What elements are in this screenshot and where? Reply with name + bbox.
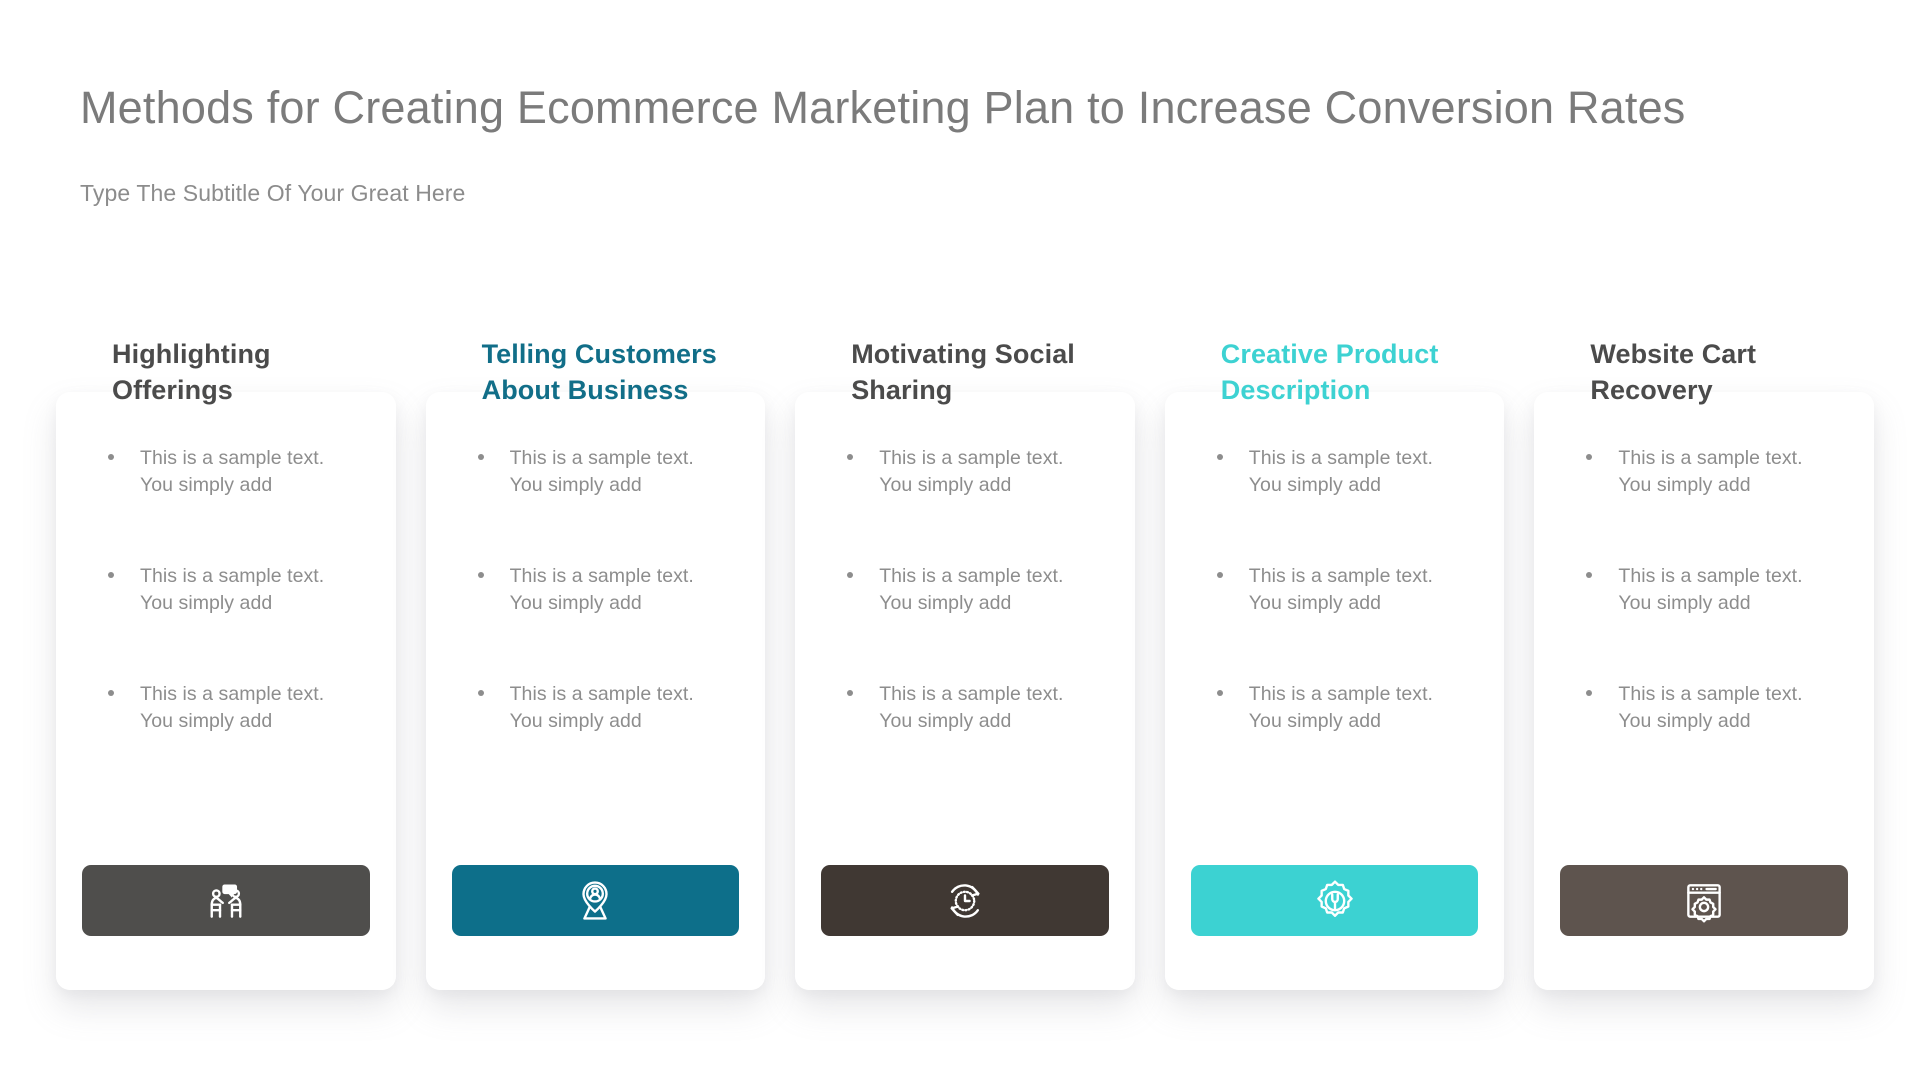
- list-item: This is a sample text. You simply add: [1580, 681, 1848, 734]
- bullet-line-1: This is a sample text.: [510, 565, 694, 587]
- bullet-line-1: This is a sample text.: [140, 447, 324, 469]
- page-subtitle: Type The Subtitle Of Your Great Here: [80, 180, 1840, 207]
- location-pin-person-icon: [572, 878, 618, 924]
- bullet-dot-icon: [108, 454, 114, 460]
- feature-card: Website Cart Recovery This is a sample t…: [1534, 392, 1874, 990]
- list-item: This is a sample text. You simply add: [841, 563, 1109, 616]
- bullet-dot-icon: [478, 454, 484, 460]
- bullet-line-2: You simply add: [879, 710, 1011, 732]
- bullet-dot-icon: [108, 572, 114, 578]
- list-item: This is a sample text. You simply add: [102, 563, 370, 616]
- gear-wrench-icon: [1312, 878, 1358, 924]
- bullet-line-2: You simply add: [879, 474, 1011, 496]
- slide-header: Methods for Creating Ecommerce Marketing…: [80, 82, 1840, 207]
- bullet-line-1: This is a sample text.: [510, 447, 694, 469]
- list-item: This is a sample text. You simply add: [472, 445, 740, 498]
- list-item: This is a sample text. You simply add: [841, 681, 1109, 734]
- bullet-line-1: This is a sample text.: [1249, 683, 1433, 705]
- card-title-line-1: Telling Customers: [482, 339, 717, 369]
- card-icon-button[interactable]: [821, 865, 1109, 936]
- bullet-line-2: You simply add: [510, 710, 642, 732]
- list-item: This is a sample text. You simply add: [102, 681, 370, 734]
- bullet-line-2: You simply add: [510, 592, 642, 614]
- bullet-line-2: You simply add: [1249, 592, 1381, 614]
- card-title: Highlighting Offerings: [82, 337, 370, 433]
- bullet-dot-icon: [1586, 454, 1592, 460]
- card-title: Creative Product Description: [1191, 337, 1479, 433]
- card-title-line-2: About Business: [482, 375, 689, 405]
- bullet-line-1: This is a sample text.: [879, 565, 1063, 587]
- card-title-line-1: Creative Product: [1221, 339, 1439, 369]
- card-icon-button[interactable]: [1560, 865, 1848, 936]
- feature-card: Motivating Social Sharing This is a samp…: [795, 392, 1135, 990]
- bullet-dot-icon: [1217, 572, 1223, 578]
- bullet-line-2: You simply add: [1249, 710, 1381, 732]
- cards-row: Highlighting Offerings This is a sample …: [56, 392, 1874, 990]
- bullet-dot-icon: [1217, 690, 1223, 696]
- card-icon-button[interactable]: [1191, 865, 1479, 936]
- bullet-dot-icon: [847, 572, 853, 578]
- card-title-line-1: Motivating Social: [851, 339, 1075, 369]
- bullet-dot-icon: [847, 454, 853, 460]
- bullet-dot-icon: [478, 572, 484, 578]
- card-title: Website Cart Recovery: [1560, 337, 1848, 433]
- bullet-line-1: This is a sample text.: [1618, 683, 1802, 705]
- clock-refresh-icon: [942, 878, 988, 924]
- bullet-line-1: This is a sample text.: [510, 683, 694, 705]
- bullet-line-2: You simply add: [140, 710, 272, 732]
- bullet-line-1: This is a sample text.: [1249, 447, 1433, 469]
- bullet-dot-icon: [1586, 690, 1592, 696]
- list-item: This is a sample text. You simply add: [1580, 563, 1848, 616]
- bullet-line-2: You simply add: [510, 474, 642, 496]
- bullet-line-1: This is a sample text.: [1618, 565, 1802, 587]
- list-item: This is a sample text. You simply add: [1211, 563, 1479, 616]
- feature-card: Telling Customers About Business This is…: [426, 392, 766, 990]
- card-title-line-1: Website Cart: [1590, 339, 1756, 369]
- people-discussion-icon: [203, 878, 249, 924]
- card-title: Motivating Social Sharing: [821, 337, 1109, 433]
- card-title-line-1: Highlighting: [112, 339, 271, 369]
- bullet-line-1: This is a sample text.: [140, 683, 324, 705]
- card-icon-button[interactable]: [82, 865, 370, 936]
- list-item: This is a sample text. You simply add: [1211, 445, 1479, 498]
- list-item: This is a sample text. You simply add: [1580, 445, 1848, 498]
- bullet-line-1: This is a sample text.: [879, 447, 1063, 469]
- card-title-line-2: Offerings: [112, 375, 233, 405]
- list-item: This is a sample text. You simply add: [841, 445, 1109, 498]
- card-title-line-2: Description: [1221, 375, 1371, 405]
- card-title-line-2: Recovery: [1590, 375, 1712, 405]
- bullet-line-2: You simply add: [1249, 474, 1381, 496]
- card-icon-button[interactable]: [452, 865, 740, 936]
- list-item: This is a sample text. You simply add: [472, 563, 740, 616]
- page-title: Methods for Creating Ecommerce Marketing…: [80, 82, 1840, 134]
- bullet-dot-icon: [847, 690, 853, 696]
- bullet-dot-icon: [108, 690, 114, 696]
- bullet-line-2: You simply add: [140, 474, 272, 496]
- bullet-line-2: You simply add: [140, 592, 272, 614]
- feature-card: Highlighting Offerings This is a sample …: [56, 392, 396, 990]
- bullet-line-1: This is a sample text.: [1249, 565, 1433, 587]
- bullet-line-2: You simply add: [1618, 592, 1750, 614]
- card-title: Telling Customers About Business: [452, 337, 740, 433]
- card-title-line-2: Sharing: [851, 375, 952, 405]
- bullet-line-1: This is a sample text.: [1618, 447, 1802, 469]
- browser-gear-icon: [1681, 878, 1727, 924]
- list-item: This is a sample text. You simply add: [1211, 681, 1479, 734]
- slide: Methods for Creating Ecommerce Marketing…: [0, 0, 1920, 1080]
- bullet-dot-icon: [478, 690, 484, 696]
- bullet-line-2: You simply add: [879, 592, 1011, 614]
- feature-card: Creative Product Description This is a s…: [1165, 392, 1505, 990]
- list-item: This is a sample text. You simply add: [472, 681, 740, 734]
- bullet-dot-icon: [1217, 454, 1223, 460]
- bullet-line-2: You simply add: [1618, 474, 1750, 496]
- list-item: This is a sample text. You simply add: [102, 445, 370, 498]
- bullet-line-1: This is a sample text.: [140, 565, 324, 587]
- bullet-line-1: This is a sample text.: [879, 683, 1063, 705]
- bullet-line-2: You simply add: [1618, 710, 1750, 732]
- bullet-dot-icon: [1586, 572, 1592, 578]
